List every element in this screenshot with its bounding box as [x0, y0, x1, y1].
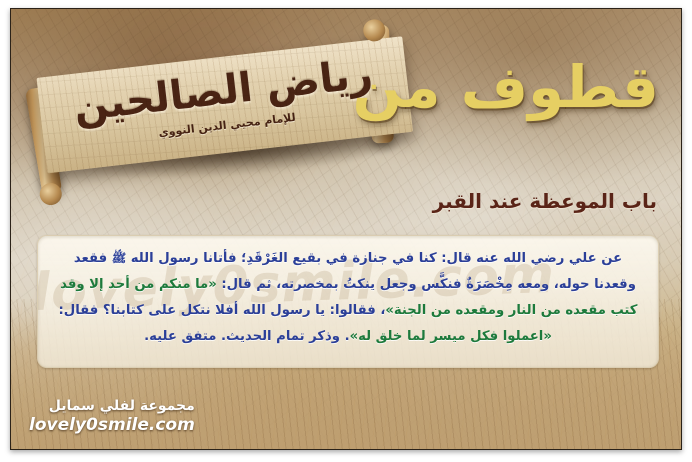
hadith-part-1: عن علي رضي الله عنه قال: كنا في جنازة في…	[126, 251, 622, 266]
series-title: قطوف من	[352, 57, 659, 118]
card-inner: رياض الصالحين للإمام محيي الدين النووي ق…	[10, 8, 682, 450]
chapter-title: باب الموعظة عند القبر	[433, 189, 657, 213]
hadith-quote-2: «اعملوا فكل ميسر لما خلق له»	[350, 329, 552, 344]
hadith-part-3: ، فقالوا: يا رسول الله أفلا نتكل على كتا…	[59, 303, 386, 318]
sallallahu-glyph: ﷺ	[112, 251, 127, 265]
credit-block: مجموعة لفلي سمايل lovely0smile.com	[29, 398, 195, 435]
credit-url: lovely0smile.com	[29, 415, 195, 435]
hadith-part-4: . وذكر تمام الحديث. متفق عليه.	[144, 329, 349, 344]
card-frame: رياض الصالحين للإمام محيي الدين النووي ق…	[0, 0, 692, 462]
hadith-text: عن علي رضي الله عنه قال: كنا في جنازة في…	[52, 245, 644, 350]
hadith-panel: lovely0smile.com عن علي رضي الله عنه قال…	[37, 235, 659, 368]
credit-arabic: مجموعة لفلي سمايل	[29, 398, 195, 414]
